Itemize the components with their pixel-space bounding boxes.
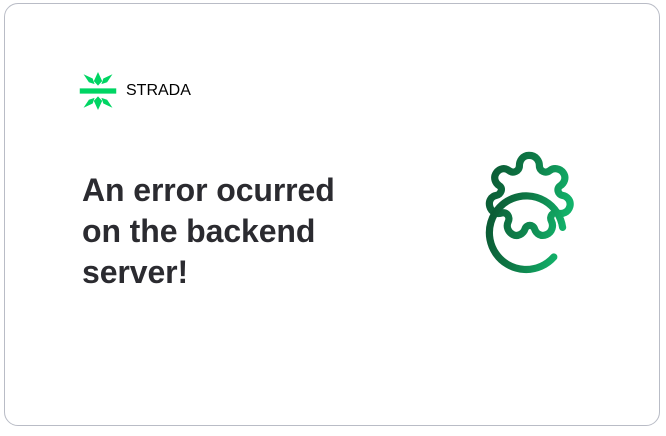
gear-icon	[449, 145, 609, 305]
error-card: STRADA An error ocurred on the backend s…	[4, 3, 660, 426]
error-message-line-3: server!	[82, 252, 372, 293]
error-message-line-2: on the backend	[82, 211, 372, 252]
error-message-text: An error ocurred on the backend server!	[82, 170, 372, 293]
brand-lockup: STRADA	[79, 72, 191, 110]
strada-starburst-icon	[79, 72, 117, 110]
brand-wordmark: STRADA	[126, 82, 191, 100]
error-message-line-1: An error ocurred	[82, 170, 372, 211]
